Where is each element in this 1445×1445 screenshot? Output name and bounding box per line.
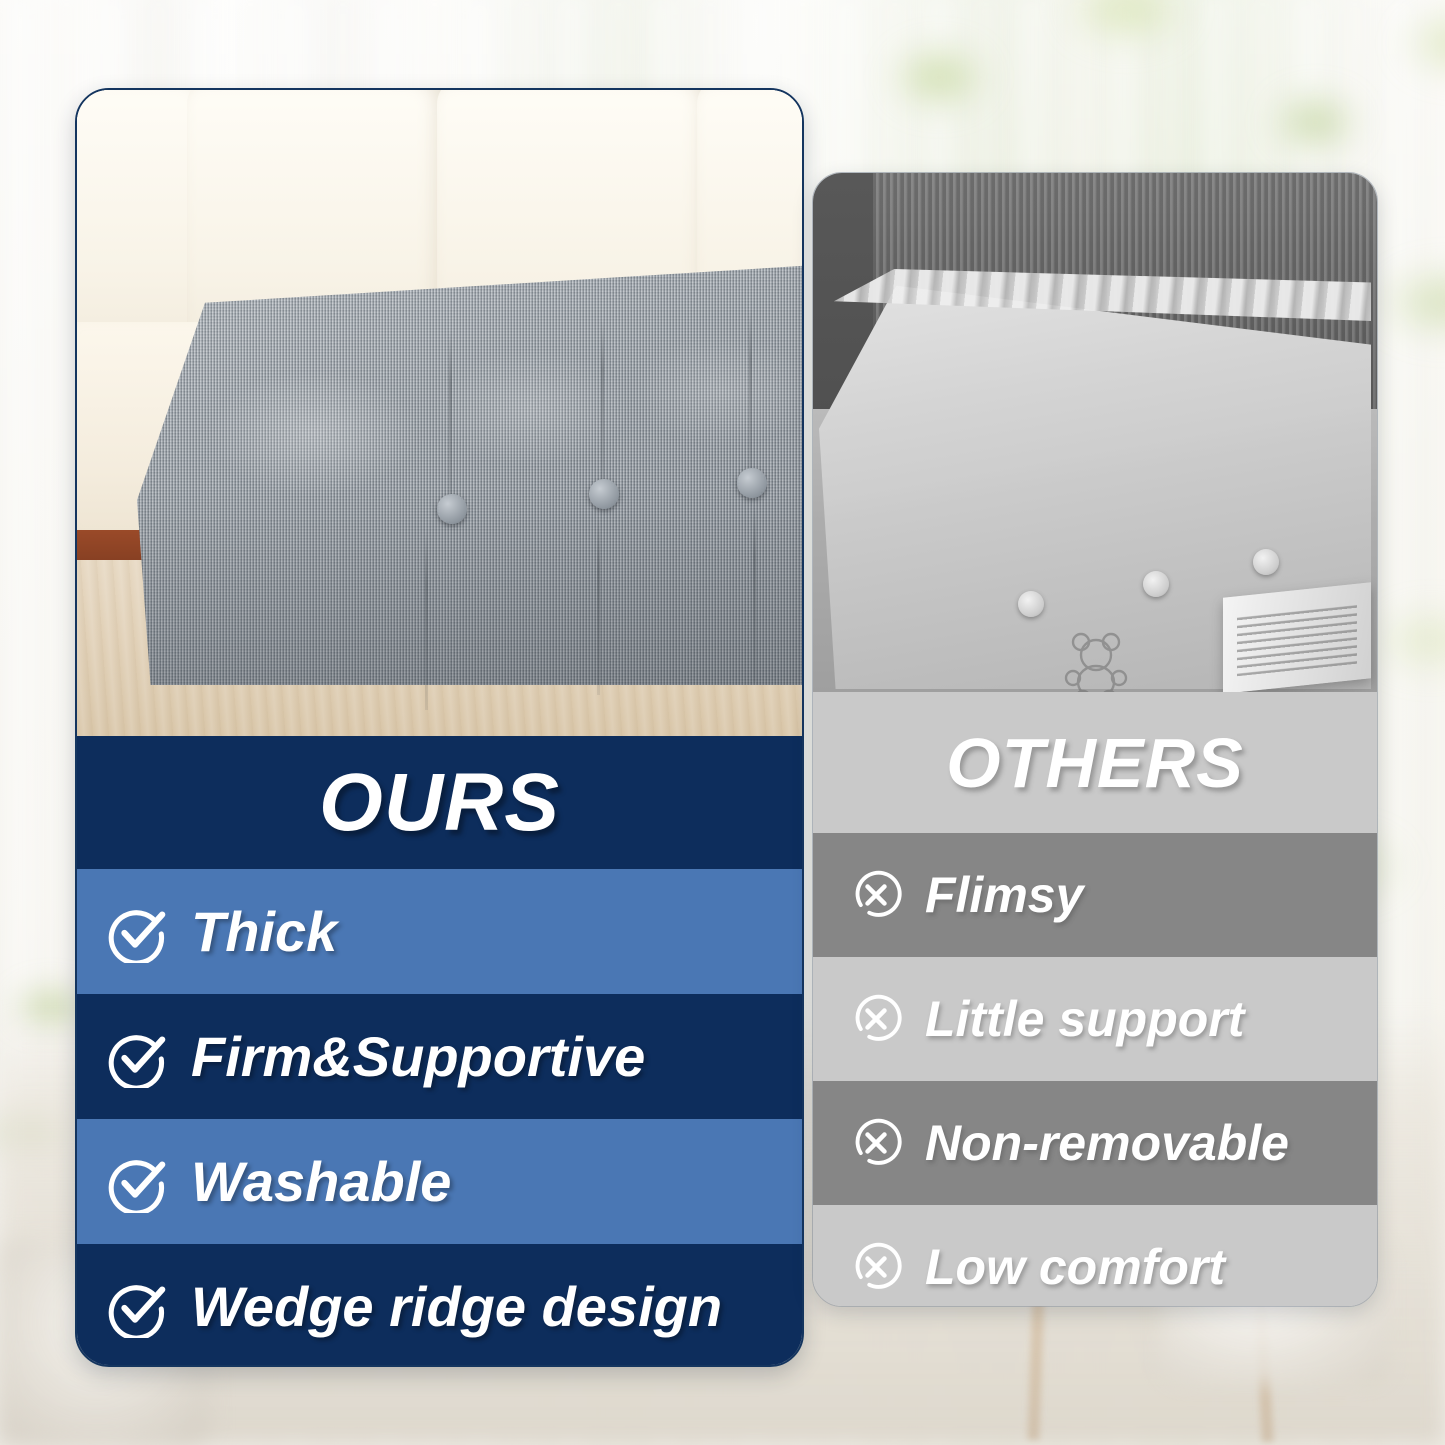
others-photo-tuft-button <box>1143 571 1169 597</box>
others-title-band: OTHERS <box>813 692 1377 833</box>
others-feature-list: Flimsy Little support Non-removable <box>813 833 1377 1307</box>
ours-photo-tuft-button <box>589 479 619 509</box>
ours-photo-tuft-button <box>437 494 467 524</box>
ours-feature-label: Washable <box>191 1154 451 1210</box>
ours-product-photo <box>77 90 802 736</box>
x-circle-icon <box>849 992 903 1046</box>
others-feature-label: Flimsy <box>925 870 1083 920</box>
x-circle-icon <box>849 868 903 922</box>
others-card: OTHERS Flimsy Little support <box>812 172 1378 1307</box>
ours-feature-row: Thick <box>77 869 802 994</box>
ours-feature-row: Washable <box>77 1119 802 1244</box>
others-feature-row: Non-removable <box>813 1081 1377 1205</box>
ours-feature-list: Thick Firm&Supportive Washable <box>77 869 802 1367</box>
comparison-infographic: OURS Thick Firm&Supportive <box>0 0 1445 1445</box>
ours-title: OURS <box>319 762 560 844</box>
ours-feature-label: Thick <box>191 904 337 960</box>
others-feature-row: Flimsy <box>813 833 1377 957</box>
check-circle-icon <box>107 901 169 963</box>
ours-photo-seam <box>601 318 604 490</box>
ours-title-band: OURS <box>77 736 802 869</box>
others-product-photo <box>813 173 1377 692</box>
ours-photo-seam <box>753 502 756 682</box>
ours-card: OURS Thick Firm&Supportive <box>75 88 804 1367</box>
ours-photo-seam <box>425 530 428 710</box>
others-photo-open-book <box>1223 582 1371 692</box>
others-feature-row: Low comfort <box>813 1205 1377 1307</box>
ours-feature-label: Wedge ridge design <box>191 1279 722 1335</box>
check-circle-icon <box>107 1151 169 1213</box>
teddy-bear-embroidery-icon <box>1063 628 1129 692</box>
check-circle-icon <box>107 1026 169 1088</box>
others-photo-tuft-button <box>1253 549 1279 575</box>
others-feature-row: Little support <box>813 957 1377 1081</box>
others-photo-tuft-button <box>1018 591 1044 617</box>
ours-photo-wedge-pillow <box>137 265 802 685</box>
check-circle-icon <box>107 1276 169 1338</box>
others-feature-label: Low comfort <box>925 1242 1225 1292</box>
others-feature-label: Non-removable <box>925 1118 1289 1168</box>
x-circle-icon <box>849 1116 903 1170</box>
x-circle-icon <box>849 1240 903 1294</box>
ours-feature-row: Wedge ridge design <box>77 1244 802 1367</box>
ours-feature-label: Firm&Supportive <box>191 1029 645 1085</box>
ours-photo-tuft-button <box>737 468 767 498</box>
ours-photo-seam <box>449 330 452 505</box>
others-feature-label: Little support <box>925 994 1244 1044</box>
others-title: OTHERS <box>946 728 1244 798</box>
ours-feature-row: Firm&Supportive <box>77 994 802 1119</box>
ours-photo-seam <box>597 515 600 695</box>
ours-photo-seam <box>749 308 752 478</box>
